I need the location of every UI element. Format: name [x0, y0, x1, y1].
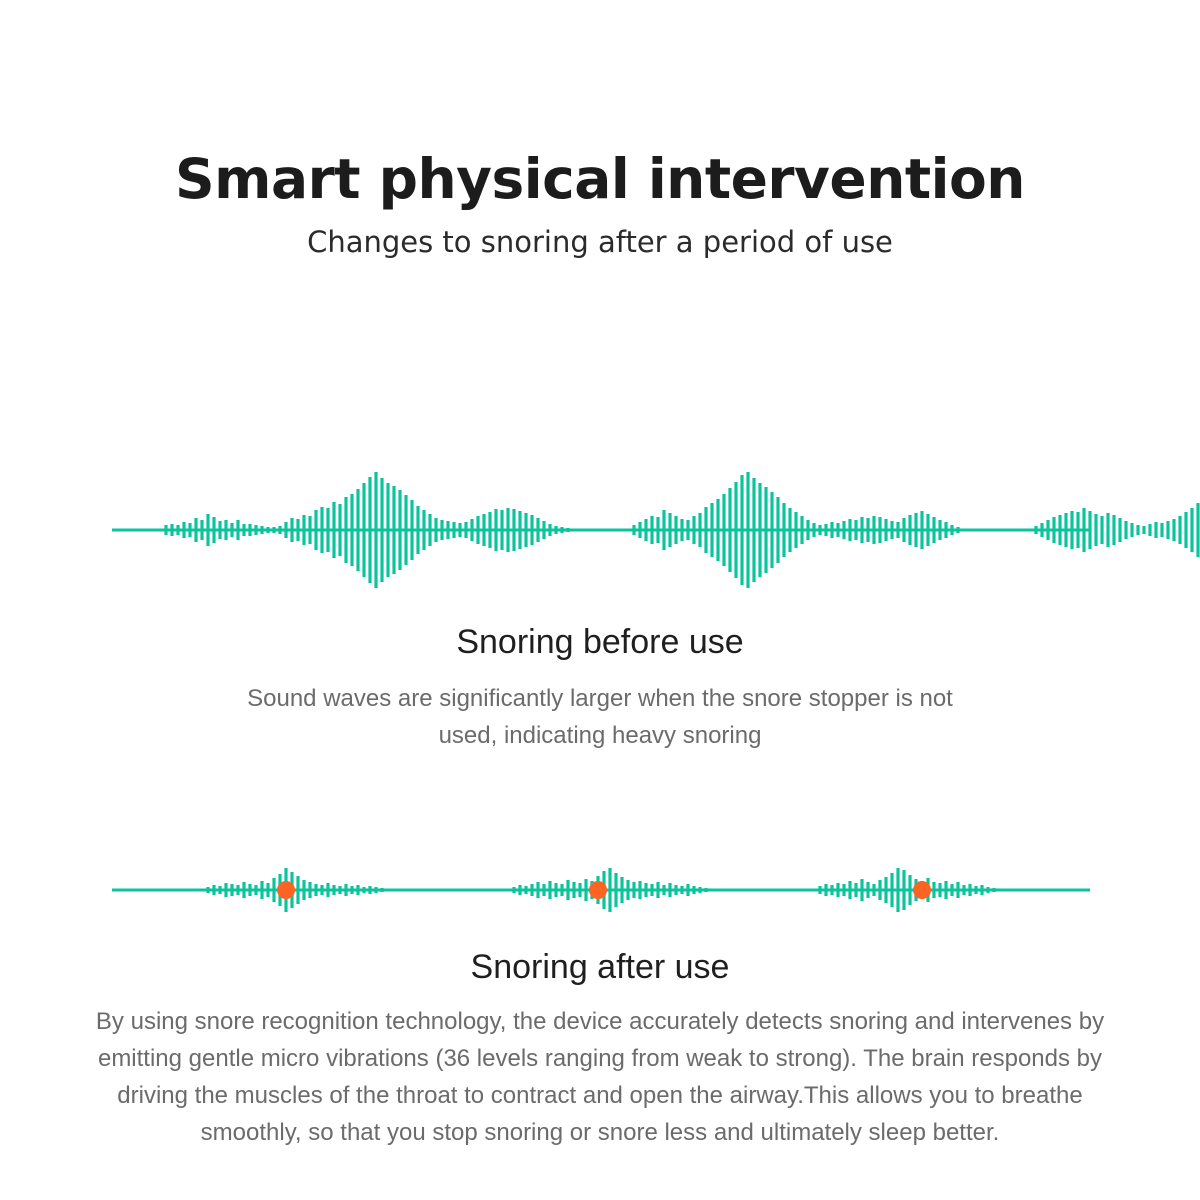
waveform-bar	[1070, 511, 1073, 549]
waveform-bar	[722, 494, 725, 566]
waveform-bar	[374, 472, 377, 588]
waveform-bar	[1064, 513, 1067, 547]
waveform-bar	[854, 883, 857, 897]
waveform-bar	[176, 525, 179, 535]
waveform-bar	[608, 868, 611, 912]
waveform-bar	[752, 478, 755, 582]
waveform-bar	[896, 522, 899, 538]
waveform-bar	[242, 524, 245, 536]
waveform-bar	[308, 882, 311, 898]
waveform-bar	[326, 883, 329, 897]
waveform-bar	[632, 882, 635, 898]
vibration-marker-dot	[913, 881, 931, 899]
waveform-bar	[638, 881, 641, 899]
waveform-bar	[272, 878, 275, 902]
waveform-bar	[446, 521, 449, 539]
waveform-bar	[542, 884, 545, 896]
waveform-bar	[836, 883, 839, 897]
waveform-bar	[332, 502, 335, 558]
waveform-bar	[512, 887, 515, 893]
waveform-bar	[644, 519, 647, 541]
waveform-bar	[350, 886, 353, 894]
waveform-bar	[200, 520, 203, 540]
waveform-bar	[254, 525, 257, 535]
waveform-bar	[962, 885, 965, 895]
waveform-bar	[872, 516, 875, 544]
waveform-bar	[932, 882, 935, 898]
waveform-bar	[614, 873, 617, 907]
waveform-bar	[668, 883, 671, 897]
waveform-bar	[620, 877, 623, 903]
waveform-bar	[380, 888, 383, 892]
waveform-bar	[1178, 516, 1181, 544]
waveform-bar	[842, 884, 845, 896]
waveform-bar	[332, 885, 335, 895]
waveform-bar	[278, 526, 281, 534]
page-subtitle: Changes to snoring after a period of use	[0, 222, 1200, 262]
waveform-bar	[320, 507, 323, 553]
waveform-bar	[188, 523, 191, 537]
waveform-bar	[824, 884, 827, 896]
waveform-bar	[938, 883, 941, 897]
waveform-bar	[374, 887, 377, 893]
waveform-bar	[830, 522, 833, 538]
waveform-bar	[818, 886, 821, 894]
before-use-caption: Snoring before use Sound waves are signi…	[0, 620, 1200, 754]
waveform-bar	[1142, 526, 1145, 534]
waveform-bar	[878, 517, 881, 543]
waveform-bar	[980, 885, 983, 895]
waveform-bar	[1046, 520, 1049, 540]
waveform-bar	[674, 516, 677, 544]
waveform-bar	[314, 884, 317, 896]
waveform-bar	[266, 883, 269, 897]
waveform-bar	[830, 885, 833, 895]
waveform-bar	[356, 489, 359, 571]
waveform-bar	[518, 511, 521, 549]
waveform-bar	[182, 522, 185, 538]
waveform-bar	[458, 523, 461, 537]
waveform-bar	[728, 488, 731, 572]
waveform-bar	[482, 514, 485, 546]
waveform-bar	[506, 508, 509, 552]
waveform-bar	[170, 524, 173, 536]
waveform-bar	[404, 495, 407, 565]
waveform-bar	[398, 490, 401, 570]
waveform-after-use-svg	[0, 845, 1200, 935]
waveform-bar	[476, 516, 479, 544]
waveform-bar	[368, 886, 371, 894]
waveform-bar	[470, 519, 473, 541]
waveform-bar	[290, 518, 293, 542]
waveform-bar	[164, 525, 167, 535]
waveform-bar	[662, 885, 665, 895]
waveform-bar	[1166, 521, 1169, 539]
waveform-bar	[530, 884, 533, 896]
waveform-bar	[1172, 519, 1175, 541]
waveform-bar	[650, 884, 653, 896]
waveform-bar	[548, 524, 551, 536]
waveform-bar	[302, 515, 305, 545]
waveform-bar	[464, 522, 467, 538]
waveform-bar	[902, 518, 905, 542]
waveform-bar	[1148, 524, 1151, 536]
waveform-bar	[1100, 516, 1103, 544]
waveform-bar	[224, 520, 227, 540]
waveform-bar	[866, 882, 869, 898]
waveform-bar	[632, 525, 635, 535]
waveform-bar	[896, 868, 899, 912]
waveform-bar	[380, 478, 383, 582]
waveform-bar	[638, 522, 641, 538]
waveform-bar	[212, 517, 215, 543]
waveform-bar	[902, 870, 905, 910]
waveform-bar	[1040, 523, 1043, 537]
waveform-bar	[416, 506, 419, 554]
waveform-bar	[824, 524, 827, 536]
waveform-bar	[1088, 511, 1091, 549]
waveform-bar	[884, 519, 887, 541]
waveform-bar	[236, 520, 239, 540]
waveform-bar	[500, 510, 503, 550]
waveform-bar	[434, 518, 437, 542]
waveform-bar	[686, 884, 689, 896]
waveform-bar	[884, 877, 887, 903]
waveform-bar	[230, 884, 233, 896]
waveform-bar	[548, 881, 551, 899]
waveform-bar	[1118, 518, 1121, 542]
waveform-bar	[560, 527, 563, 533]
waveform-bar	[932, 517, 935, 543]
waveform-bar	[758, 483, 761, 577]
waveform-bar	[248, 884, 251, 896]
waveform-bar	[986, 887, 989, 893]
waveform-bar	[968, 884, 971, 896]
waveform-bar	[296, 876, 299, 904]
waveform-bar	[812, 523, 815, 537]
waveform-bar	[908, 515, 911, 545]
waveform-bar	[1076, 512, 1079, 548]
waveform-bar	[794, 512, 797, 548]
waveform-bar	[344, 497, 347, 563]
waveform-bar	[668, 513, 671, 547]
vibration-marker-dot	[589, 881, 607, 899]
page-root: Smart physical intervention Changes to s…	[0, 0, 1200, 1200]
waveform-bar	[236, 885, 239, 895]
waveform-bar	[338, 504, 341, 556]
waveform-bar	[698, 887, 701, 893]
waveform-bar	[1124, 521, 1127, 539]
waveform-bar	[554, 883, 557, 897]
waveform-bar	[368, 477, 371, 583]
waveform-bar	[440, 520, 443, 540]
waveform-bar	[1052, 517, 1055, 543]
waveform-bar	[692, 886, 695, 894]
waveform-bar	[692, 516, 695, 544]
waveform-bar	[362, 887, 365, 893]
waveform-bar	[566, 528, 569, 532]
waveform-bar	[674, 885, 677, 895]
waveform-bar	[626, 880, 629, 900]
waveform-bar	[254, 885, 257, 895]
waveform-bar	[974, 886, 977, 894]
waveform-bar	[956, 882, 959, 898]
waveform-bar	[848, 881, 851, 899]
waveform-bar	[992, 888, 995, 892]
waveform-bar	[698, 513, 701, 547]
waveform-bar	[218, 886, 221, 894]
waveform-bar	[950, 884, 953, 896]
waveform-bar	[248, 524, 251, 536]
waveform-bar	[938, 520, 941, 540]
waveform-bar	[302, 880, 305, 900]
header: Smart physical intervention Changes to s…	[0, 148, 1200, 262]
vibration-marker-dot	[277, 881, 295, 899]
waveform-bar	[320, 885, 323, 895]
waveform-bar	[1094, 514, 1097, 546]
waveform-bar	[788, 508, 791, 552]
after-use-description: By using snore recognition technology, t…	[65, 1003, 1135, 1151]
waveform-bar	[1130, 523, 1133, 537]
waveform-bar	[842, 521, 845, 539]
waveform-bar	[536, 518, 539, 542]
waveform-bar	[866, 518, 869, 542]
waveform-bar	[944, 522, 947, 538]
waveform-bar	[782, 503, 785, 557]
waveform-bar	[512, 509, 515, 551]
waveform-bar	[806, 520, 809, 540]
waveform-bar	[650, 516, 653, 544]
page-title: Smart physical intervention	[0, 148, 1200, 210]
waveform-bar	[206, 887, 209, 893]
waveform-bar	[818, 525, 821, 535]
waveform-bar	[680, 519, 683, 541]
waveform-bar	[656, 517, 659, 543]
waveform-bar	[566, 880, 569, 900]
waveform-bar	[584, 879, 587, 901]
waveform-bar	[656, 882, 659, 898]
waveform-bar	[428, 514, 431, 546]
waveform-bar	[524, 886, 527, 894]
waveform-bar	[746, 472, 749, 588]
waveform-bar	[914, 513, 917, 547]
waveform-bar	[704, 888, 707, 892]
waveform-bar	[386, 483, 389, 577]
waveform-bar	[872, 884, 875, 896]
waveform-bar	[356, 885, 359, 895]
waveform-bar	[644, 883, 647, 897]
waveform-bar	[704, 507, 707, 553]
waveform-bar	[1058, 515, 1061, 545]
waveform-bar	[362, 483, 365, 577]
waveform-bar	[218, 521, 221, 539]
waveform-bar	[494, 509, 497, 551]
waveform-bar	[350, 494, 353, 566]
waveform-bar	[344, 884, 347, 896]
waveform-bar	[848, 519, 851, 541]
waveform-bar	[1184, 512, 1187, 548]
waveform-bar	[908, 875, 911, 905]
waveform-bar	[524, 513, 527, 547]
after-use-caption: Snoring after use By using snore recogni…	[0, 945, 1200, 1151]
waveform-bar	[272, 527, 275, 533]
waveform-bar	[1154, 522, 1157, 538]
waveform-bar	[410, 500, 413, 560]
waveform-bar	[578, 883, 581, 897]
waveform-bar	[716, 499, 719, 561]
waveform-bar	[560, 884, 563, 896]
waveform-bar	[926, 514, 929, 546]
waveform-after-use	[0, 845, 1200, 935]
waveform-bar	[488, 512, 491, 548]
after-use-heading: Snoring after use	[0, 945, 1200, 989]
waveform-bar	[950, 525, 953, 535]
waveform-bar	[1190, 508, 1193, 552]
waveform-bar	[224, 883, 227, 897]
waveform-bar	[890, 521, 893, 539]
waveform-bar	[530, 515, 533, 545]
waveform-bar	[662, 510, 665, 550]
waveform-bar	[1034, 526, 1037, 534]
waveform-bar	[776, 497, 779, 563]
waveform-bar	[734, 482, 737, 578]
waveform-bar	[860, 879, 863, 901]
waveform-bar	[854, 520, 857, 540]
waveform-bar	[920, 511, 923, 549]
waveform-bar	[212, 885, 215, 895]
waveform-bar	[710, 503, 713, 557]
waveform-bar	[572, 882, 575, 898]
waveform-bar	[890, 873, 893, 907]
waveform-bar	[860, 517, 863, 543]
waveform-bar	[1196, 503, 1199, 557]
waveform-bar	[194, 518, 197, 542]
waveform-bar	[230, 523, 233, 537]
waveform-bar	[944, 881, 947, 899]
waveform-bar	[518, 885, 521, 895]
waveform-baseline	[112, 529, 1090, 532]
waveform-bar	[206, 514, 209, 546]
waveform-bar	[836, 523, 839, 537]
waveform-bar	[770, 492, 773, 568]
waveform-bar	[338, 886, 341, 894]
waveform-bar	[314, 510, 317, 550]
waveform-bar	[296, 519, 299, 541]
waveform-before-use-svg	[0, 440, 1200, 620]
waveform-bar	[542, 521, 545, 539]
waveform-bar	[1136, 525, 1139, 535]
waveform-bar	[680, 886, 683, 894]
waveform-bar	[242, 882, 245, 898]
waveform-bar	[260, 526, 263, 534]
waveform-bar	[392, 486, 395, 574]
waveform-before-use	[0, 440, 1200, 620]
waveform-bar	[1112, 515, 1115, 545]
waveform-bar	[284, 522, 287, 538]
waveform-bar	[800, 516, 803, 544]
waveform-bar	[878, 880, 881, 900]
before-use-heading: Snoring before use	[0, 620, 1200, 664]
waveform-bar	[1160, 523, 1163, 537]
waveform-bar	[554, 526, 557, 534]
waveform-bar	[1082, 508, 1085, 552]
waveform-bar	[326, 508, 329, 552]
before-use-description: Sound waves are significantly larger whe…	[220, 680, 980, 754]
waveform-bar	[536, 882, 539, 898]
waveform-bar	[452, 522, 455, 538]
waveform-bar	[764, 487, 767, 573]
waveform-bar	[266, 527, 269, 533]
waveform-bar	[740, 475, 743, 585]
waveform-bar	[422, 510, 425, 550]
waveform-bar	[956, 527, 959, 533]
waveform-bar	[260, 881, 263, 899]
waveform-bar	[686, 520, 689, 540]
waveform-bar	[1106, 513, 1109, 547]
waveform-bar	[308, 516, 311, 544]
